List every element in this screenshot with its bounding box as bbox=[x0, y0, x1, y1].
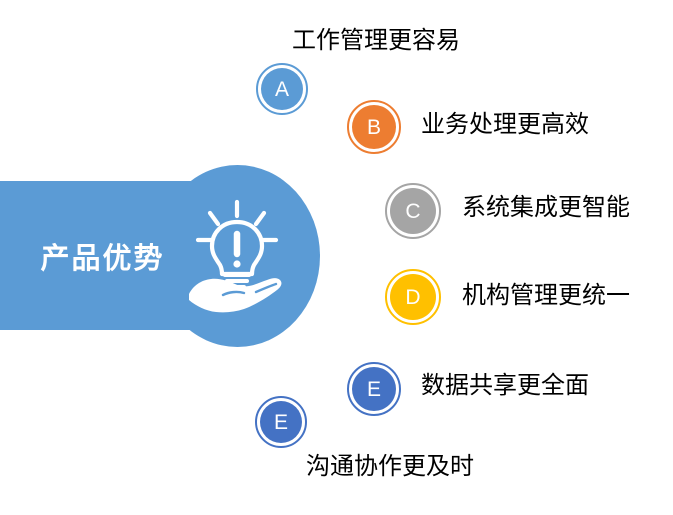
node-letter-c: C bbox=[405, 201, 420, 222]
node-circle-e-upper[interactable]: E bbox=[352, 367, 396, 411]
node-letter-e-lower: E bbox=[274, 412, 288, 433]
node-letter-b: B bbox=[367, 117, 381, 138]
node-circle-b[interactable]: B bbox=[352, 105, 396, 149]
node-circle-a[interactable]: A bbox=[261, 68, 303, 110]
node-letter-d: D bbox=[405, 287, 420, 308]
node-letter-e-upper: E bbox=[367, 379, 381, 400]
infographic-canvas: 产品优势 bbox=[0, 0, 673, 515]
node-label-e-upper: 数据共享更全面 bbox=[421, 371, 589, 401]
node-letter-a: A bbox=[275, 79, 289, 100]
product-advantage-banner: 产品优势 bbox=[0, 160, 320, 350]
node-label-e-lower: 沟通协作更及时 bbox=[306, 452, 474, 482]
node-label-b: 业务处理更高效 bbox=[421, 110, 589, 140]
node-label-d: 机构管理更统一 bbox=[462, 281, 630, 311]
node-label-a: 工作管理更容易 bbox=[292, 26, 460, 56]
node-circle-d[interactable]: D bbox=[390, 274, 436, 320]
node-label-c: 系统集成更智能 bbox=[462, 193, 630, 223]
node-circle-c[interactable]: C bbox=[390, 188, 436, 234]
node-circle-e-lower[interactable]: E bbox=[260, 401, 302, 443]
lightbulb-in-hand-icon bbox=[163, 182, 311, 330]
